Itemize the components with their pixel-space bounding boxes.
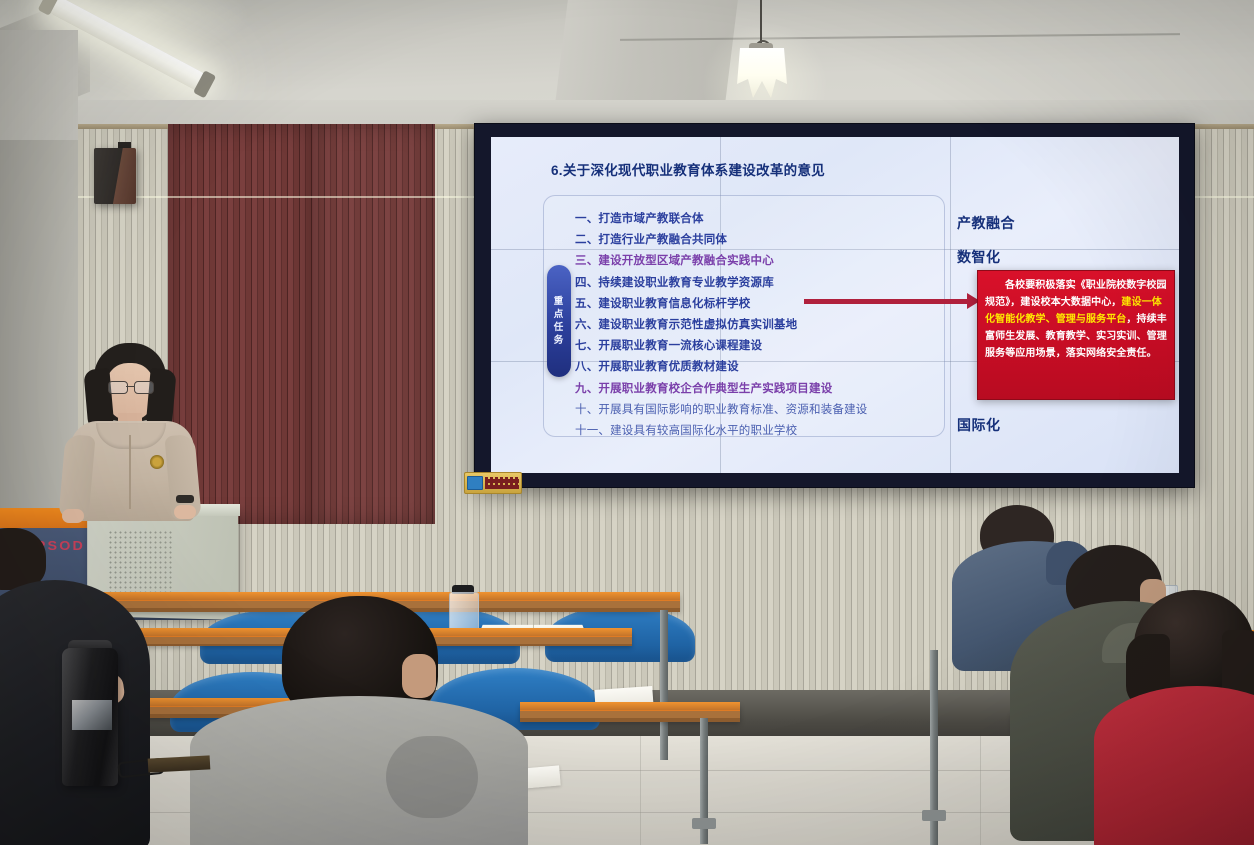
task-item: 一、打造市域产教联合体: [575, 209, 975, 230]
task-item: 八、开展职业教育优质教材建设: [575, 357, 975, 378]
thermos-label: [72, 700, 112, 730]
task-item: 四、持续建设职业教育专业教学资源库: [575, 273, 975, 294]
slide-title: 6.关于深化现代职业教育体系建设改革的意见: [551, 159, 825, 179]
red-callout-box: 各校要积极落实《职业院校数字校园规范》，建设校本大数据中心，建设一体化智能化教学…: [977, 270, 1175, 400]
slide-canvas: 6.关于深化现代职业教育体系建设改革的意见 重 点 任 务 一、打造市域产教联合…: [491, 137, 1179, 473]
glasses-lens-right: [134, 381, 154, 394]
keyword-guojihua: 国际化: [957, 415, 1001, 435]
task-item: 二、打造行业产教融合共同体: [575, 230, 975, 251]
task-item: 五、建设职业教育信息化标杆学校: [575, 294, 975, 315]
floor-tile-seam: [640, 736, 641, 845]
presenter-glasses-icon: [108, 381, 152, 392]
task-item: 七、开展职业教育一流核心课程建设: [575, 336, 975, 357]
equipment-label-sticker: [464, 472, 522, 494]
pendant-cord: [760, 0, 762, 44]
badge-char-2: 点: [554, 308, 565, 321]
classroom-photo: 6.关于深化现代职业教育体系建设改革的意见 重 点 任 务 一、打造市域产教联合…: [0, 0, 1254, 845]
presenter-badge-emblem: [150, 455, 164, 469]
floor-tile-seam: [980, 736, 981, 845]
keyword-shuzhihua: 数智化: [957, 247, 1001, 267]
audience-person-red-top: [1110, 590, 1254, 845]
presenter-wristwatch: [176, 495, 194, 503]
task-list: 一、打造市域产教联合体 二、打造行业产教融合共同体 三、建设开放型区域产教融合实…: [575, 209, 975, 442]
glasses-bridge: [126, 386, 134, 387]
monitor-icon: [467, 476, 483, 490]
presenter-hand-left: [62, 509, 84, 523]
badge-char-4: 务: [554, 334, 565, 347]
desk-leg: [660, 610, 668, 760]
presenter-zipper: [129, 435, 131, 509]
person-shoulder-shadow: [386, 736, 478, 818]
presenter-person: [56, 343, 216, 523]
keyword-chanjiao-ronghe: 产教融合: [957, 213, 1015, 233]
task-item: 六、建设职业教育示范性虚拟仿真实训基地: [575, 315, 975, 336]
audience-person-grey-sweater: [190, 596, 530, 845]
desk-leg-foot: [922, 810, 946, 821]
desk-leg-foot: [692, 818, 716, 829]
red-callout-text: 各校要积极落实《职业院校数字校园规范》，建设校本大数据中心，建设一体化智能化教学…: [985, 277, 1167, 362]
key-tasks-badge-label: 重 点 任 务: [547, 265, 571, 377]
wall-speaker: [94, 148, 136, 204]
task-item: 九、开展职业教育校企合作典型生产实践项目建设: [575, 379, 975, 400]
badge-char-1: 重: [554, 295, 565, 308]
red-arrow-shaft: [804, 299, 969, 304]
desk-row-front-right-top: [520, 702, 740, 710]
task-item: 十、开展具有国际影响的职业教育标准、资源和装备建设: [575, 400, 975, 421]
wooden-door-panel-right: [313, 124, 435, 524]
task-item: 十一、建设具有较高国际化水平的职业学校: [575, 421, 975, 442]
task-item: 三、建设开放型区域产教融合实践中心: [575, 251, 975, 272]
led-display-screen[interactable]: 6.关于深化现代职业教育体系建设改革的意见 重 点 任 务 一、打造市域产教联合…: [474, 123, 1195, 488]
person-torso-red: [1094, 686, 1254, 845]
person-ear: [402, 654, 436, 698]
sticker-text-block: [485, 477, 519, 489]
key-tasks-badge: 重 点 任 务: [547, 265, 571, 377]
badge-char-3: 任: [554, 321, 565, 334]
glasses-lens-left: [108, 381, 128, 394]
presenter-hand-right: [174, 505, 196, 519]
